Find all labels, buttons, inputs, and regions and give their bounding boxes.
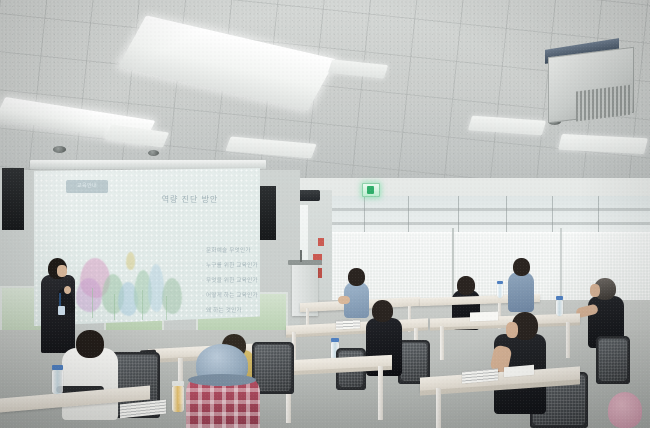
attendee-head [513, 258, 530, 276]
bottle-cap [556, 296, 563, 300]
attendee-arm [338, 296, 350, 304]
slide-flower-illustration [74, 248, 194, 322]
exit-sign-icon [362, 183, 380, 197]
attendee-body [62, 348, 118, 420]
attendee-head [372, 300, 393, 322]
presenter-hand [64, 286, 71, 294]
ceiling-speaker-icon [53, 146, 66, 153]
slide-badge: 교육안내 [66, 180, 108, 193]
handout-paper [470, 312, 498, 322]
chair-mesh [255, 345, 291, 391]
presenter-lanyard [59, 293, 61, 307]
chair [596, 336, 630, 384]
bottle-cap [497, 281, 503, 284]
presenter-name-badge [58, 306, 65, 315]
slide-title: 역량 진단 방안 [130, 194, 250, 205]
presenter-face [57, 265, 67, 277]
water-bottle [52, 370, 63, 394]
water-bottle [556, 300, 563, 316]
fire-extinguisher-marker [318, 238, 324, 246]
attendee-body [508, 272, 534, 312]
chair-mesh [401, 343, 427, 381]
attendee-face [506, 322, 518, 338]
slide-bullet: 왜 하는 것인가 [202, 306, 260, 314]
attendee-head [348, 268, 365, 286]
bottle-cap [331, 338, 339, 342]
table-leg [566, 322, 570, 358]
chair-mesh [599, 339, 627, 381]
bottle-cap [52, 365, 63, 370]
handout-paper [336, 319, 360, 329]
table-leg [440, 326, 444, 360]
slide-bullet: 문화예술 무엇인가 [202, 246, 260, 254]
slide-bullet: 무엇을 위한 교육인가 [202, 276, 260, 284]
bucket-hat-brim [188, 374, 256, 386]
water-bottle [172, 386, 184, 412]
photograph-seminar-room: 교육안내 역량 진단 방안 문화예술 무엇인가 누구를 위한 교육인가 무엇을 … [0, 0, 650, 428]
attendee-face [590, 284, 600, 297]
attendee-head [457, 276, 475, 295]
slide-bullet: 어떻게 하는 교육인가 [202, 291, 260, 299]
slide-badge-text: 교육안내 [66, 180, 108, 193]
attendee-head [76, 330, 104, 358]
ceiling-speaker-icon [148, 150, 159, 156]
table-leg [378, 366, 383, 420]
desk-item [608, 392, 642, 428]
wall-speaker-box [2, 168, 24, 230]
table-leg [436, 388, 441, 428]
bottle-cap [172, 381, 184, 386]
water-bottle [497, 284, 503, 298]
lectern-top [288, 260, 322, 265]
microphone-icon [300, 250, 302, 262]
slide-bullet: 누구를 위한 교육인가 [202, 261, 260, 269]
